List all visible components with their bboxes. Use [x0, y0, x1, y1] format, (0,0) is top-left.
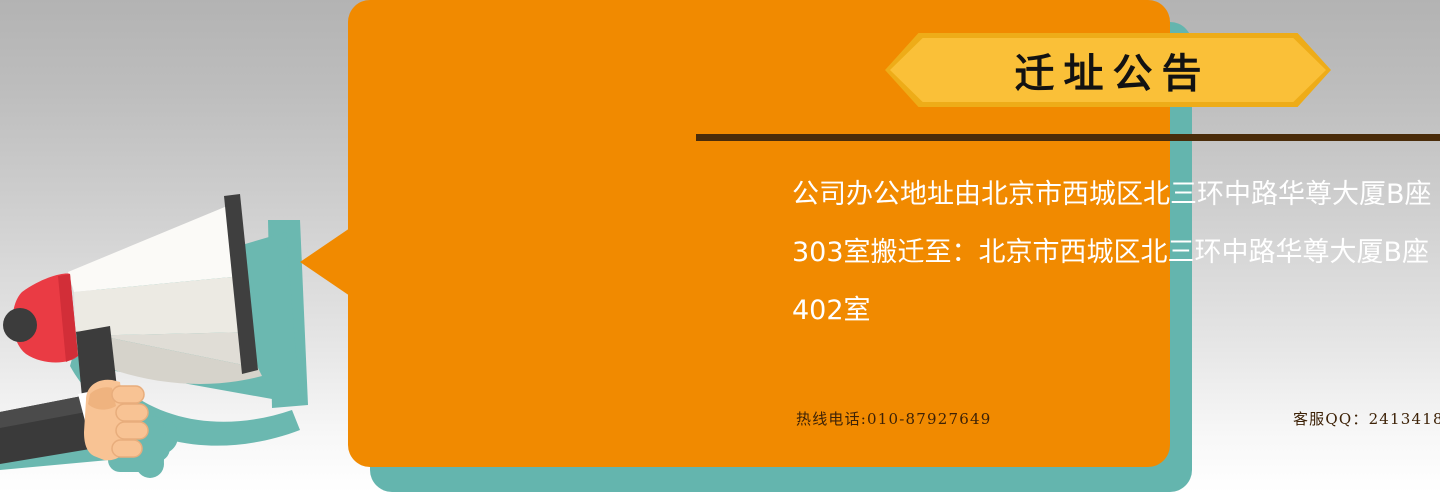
title-divider [696, 134, 1440, 141]
customer-service-qq: 客服QQ：2413418188 [1293, 408, 1440, 429]
hand [84, 380, 148, 461]
page-title: 迁址公告 [885, 33, 1331, 107]
announcement-card: 迁址公告 公司办公地址由北京市西城区北三环中路华尊大厦B座303室搬迁至：北京市… [348, 0, 1170, 467]
hotline-phone: 热线电话:010-87927649 [796, 408, 992, 429]
megaphone-icon [0, 180, 360, 492]
title-ribbon: 迁址公告 [885, 33, 1331, 107]
contact-row: 热线电话:010-87927649 客服QQ：2413418188 [796, 408, 1440, 429]
megaphone-knob [3, 308, 37, 342]
announcement-body: 公司办公地址由北京市西城区北三环中路华尊大厦B座303室搬迁至：北京市西城区北三… [792, 166, 1440, 340]
announcement-banner: 迁址公告 公司办公地址由北京市西城区北三环中路华尊大厦B座303室搬迁至：北京市… [0, 0, 1440, 492]
bubble-tail [300, 228, 350, 296]
